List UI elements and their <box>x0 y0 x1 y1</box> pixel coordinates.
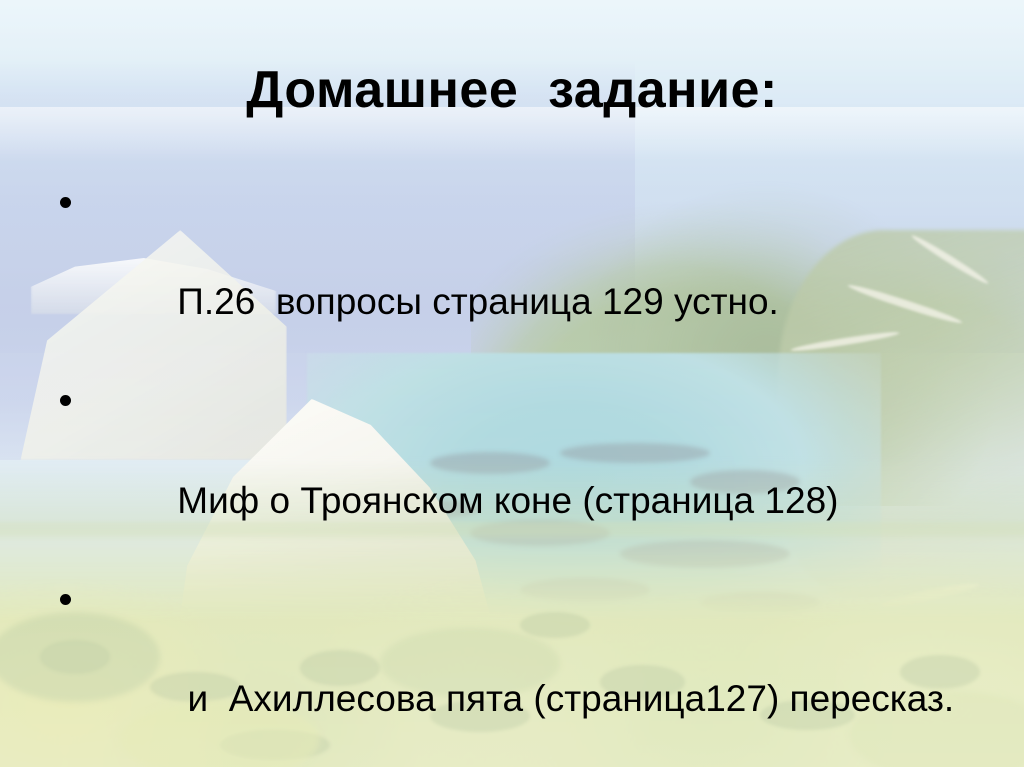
list-item: Миф о Троянском коне (страница 128) <box>52 380 962 572</box>
slide-content: Домашнее задание: П.26 вопросы страница … <box>0 0 1024 767</box>
homework-bullet-list: П.26 вопросы страница 129 устно. Миф о Т… <box>52 182 962 767</box>
bullet-dot-icon <box>60 594 71 605</box>
list-item: и Ахиллесова пята (страница127) пересказ… <box>52 579 962 767</box>
list-item-text: Миф о Троянском коне (страница 128) <box>177 480 838 521</box>
presentation-slide: Домашнее задание: П.26 вопросы страница … <box>0 0 1024 767</box>
list-item: П.26 вопросы страница 129 устно. <box>52 182 962 374</box>
bullet-dot-icon <box>60 395 71 406</box>
list-item-text: и Ахиллесова пята (страница127) пересказ… <box>177 678 954 719</box>
slide-title: Домашнее задание: <box>0 62 1024 119</box>
bullet-dot-icon <box>60 197 71 208</box>
list-item-text: П.26 вопросы страница 129 устно. <box>177 281 779 322</box>
